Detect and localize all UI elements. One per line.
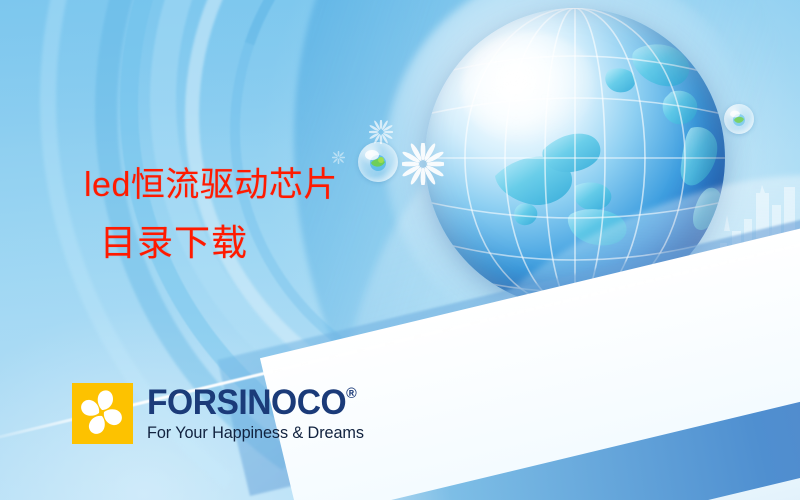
logo-text-block: FORSINOCO ® For Your Happiness & Dreams <box>147 385 367 442</box>
sparkle-flower-icon <box>369 120 393 144</box>
four-petal-pinwheel-icon <box>72 383 133 444</box>
top-light-band <box>0 0 800 150</box>
bubble-globe <box>358 142 398 182</box>
cityscape-silhouette <box>660 185 800 300</box>
logo-wordmark: FORSINOCO ® <box>147 385 358 420</box>
globe-sphere <box>425 8 725 308</box>
globe-specular-highlight <box>461 32 599 146</box>
bubble-leaf <box>492 320 538 366</box>
banner-canvas: led恒流驱动芯片 目录下载 FORSINOCO ® For Your Happ… <box>0 0 800 500</box>
headline-line-1: led恒流驱动芯片 <box>84 163 338 207</box>
globe-continents <box>425 8 725 308</box>
logo-name-text: FORSINOCO <box>147 385 346 420</box>
globe-outer-glow <box>385 0 765 348</box>
bubble-small <box>724 104 754 134</box>
headline-line-2: 目录下载 <box>100 219 338 267</box>
registered-trademark-icon: ® <box>346 386 356 401</box>
brand-logo[interactable]: FORSINOCO ® For Your Happiness & Dreams <box>72 383 367 444</box>
headline-block: led恒流驱动芯片 目录下载 <box>84 163 338 267</box>
globe-rim-shading <box>425 8 725 308</box>
globe-graphic <box>425 8 725 308</box>
logo-tagline: For Your Happiness & Dreams <box>147 425 364 442</box>
swoosh-pale-arc <box>404 133 800 500</box>
sparkle-flower-icon <box>402 143 444 185</box>
